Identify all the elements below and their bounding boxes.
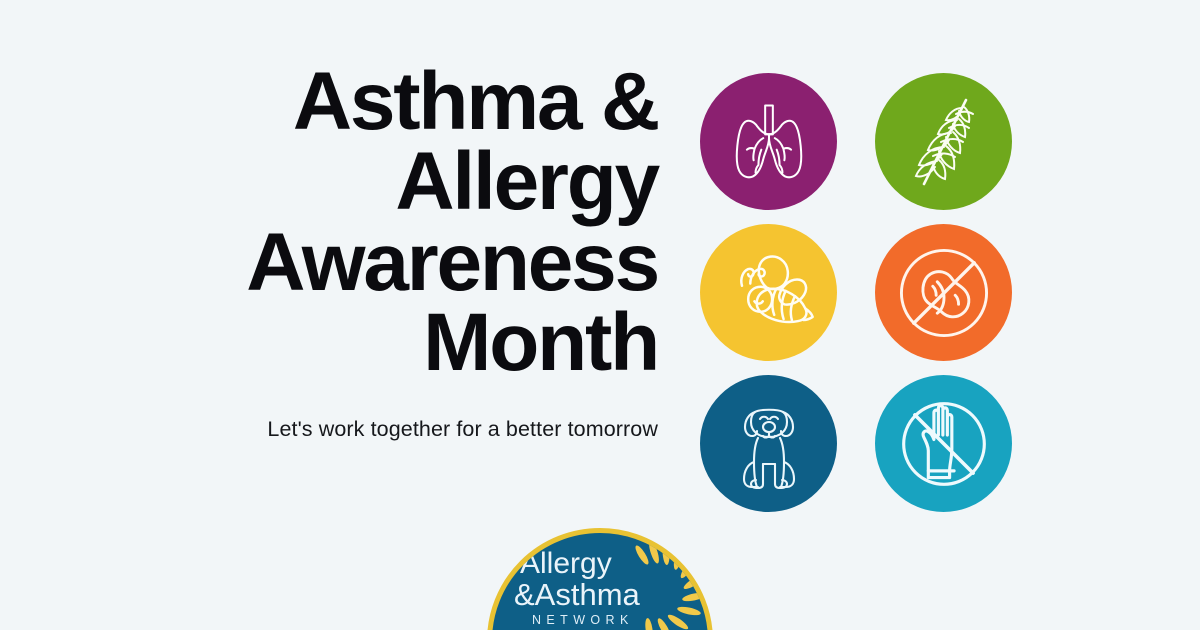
icon-cell-pollen[interactable] xyxy=(872,70,1015,213)
logo-line-2: &Asthma xyxy=(514,577,641,612)
icon-circle-latex xyxy=(875,375,1012,512)
tagline: Let's work together for a better tomorro… xyxy=(0,383,680,442)
dog-icon xyxy=(719,394,819,494)
bee-icon xyxy=(717,241,821,345)
allergy-asthma-network-logo: Allergy &Asthma NETWORK xyxy=(492,533,713,630)
icon-cell-latex[interactable] xyxy=(872,372,1015,515)
no-peanut-icon xyxy=(888,237,1000,349)
ragweed-leaf-icon xyxy=(894,92,994,192)
page-title: Asthma & Allergy Awareness Month xyxy=(0,62,680,383)
icon-cell-peanut[interactable] xyxy=(872,221,1015,364)
poster-canvas: Asthma & Allergy Awareness Month Let's w… xyxy=(0,0,1200,630)
icon-circle-peanut xyxy=(875,224,1012,361)
headline-block: Asthma & Allergy Awareness Month Let's w… xyxy=(0,62,680,442)
icon-circle-dog xyxy=(700,375,837,512)
logo-badge[interactable]: Allergy &Asthma NETWORK xyxy=(487,528,713,630)
logo-line-3: NETWORK xyxy=(532,613,634,627)
logo-line-1: Allergy xyxy=(520,547,612,580)
icon-cell-dog[interactable] xyxy=(697,372,840,515)
icon-circle-bee xyxy=(700,224,837,361)
icon-circle-pollen xyxy=(875,73,1012,210)
lungs-icon xyxy=(721,94,817,190)
icon-cell-lungs[interactable] xyxy=(697,70,840,213)
sunburst-icon xyxy=(633,540,706,630)
icon-cell-bee[interactable] xyxy=(697,221,840,364)
no-latex-glove-icon xyxy=(888,388,1000,500)
icon-circle-lungs xyxy=(700,73,837,210)
icon-grid xyxy=(697,70,1015,515)
